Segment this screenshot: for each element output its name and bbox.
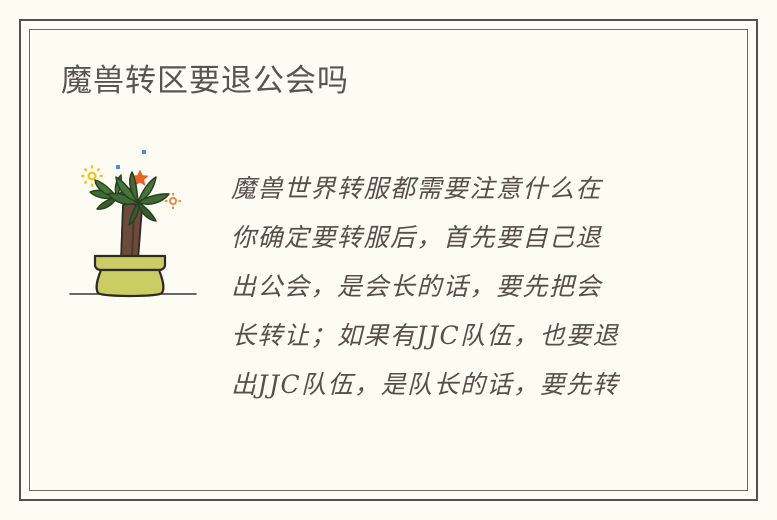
body-line: 你确定要转服后，首先要自己退 (231, 213, 661, 262)
article-page: 魔兽转区要退公会吗 (0, 0, 777, 520)
plant-pot (95, 256, 165, 296)
blue-dot-mid-icon (116, 165, 120, 169)
blue-dot-upper-icon (142, 150, 146, 154)
body-line: 魔兽世界转服都需要注意什么在 (231, 164, 661, 213)
potted-plant-illustration (62, 140, 212, 310)
plant-stems (121, 203, 142, 260)
body-line: 长转让；如果有JJC队伍，也要退 (231, 311, 661, 360)
body-line: 出JJC队伍，是队长的话，要先转 (231, 360, 661, 409)
page-title: 魔兽转区要退公会吗 (61, 60, 349, 102)
body-line: 出公会，是会长的话，要先把会 (231, 262, 661, 311)
article-body: 魔兽世界转服都需要注意什么在 你确定要转服后，首先要自己退 出公会，是会长的话，… (231, 164, 661, 409)
